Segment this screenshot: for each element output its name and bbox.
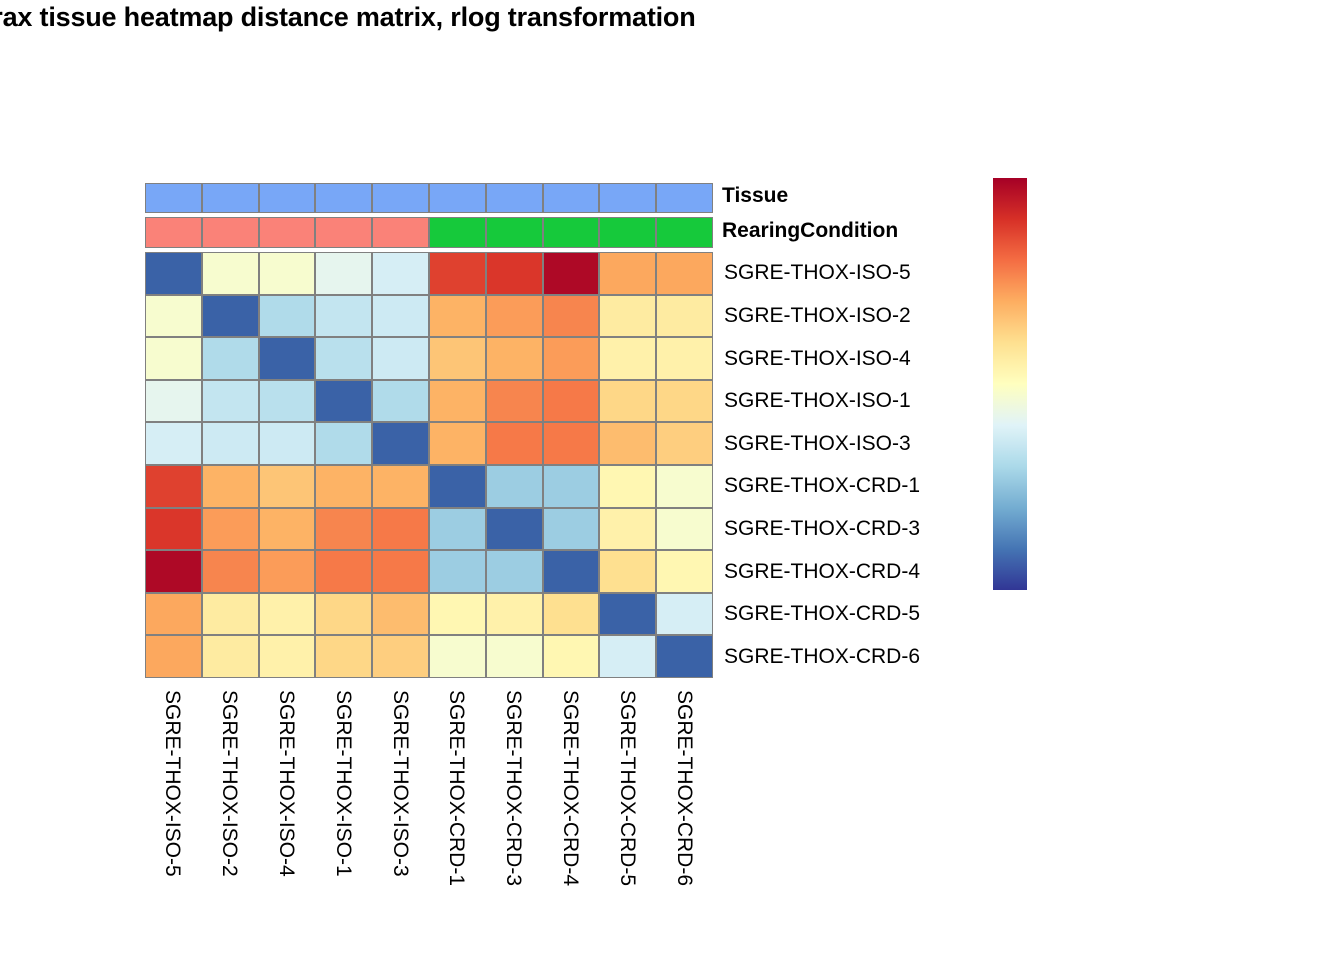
heatmap-cell [599, 380, 656, 423]
heatmap-cell [372, 550, 429, 593]
heatmap-cell [429, 422, 486, 465]
annotation-cell-tissue [656, 183, 713, 213]
annotation-row-label-tissue: Tissue [722, 184, 788, 208]
heatmap-cell [656, 635, 713, 678]
heatmap-cell [429, 508, 486, 551]
heatmap-cell [315, 465, 372, 508]
heatmap-cell [202, 337, 259, 380]
heatmap-cell [486, 337, 543, 380]
heatmap-cell [315, 380, 372, 423]
heatmap-cell [656, 550, 713, 593]
heatmap-cell [202, 422, 259, 465]
heatmap-cell [429, 337, 486, 380]
heatmap-cell [145, 465, 202, 508]
column-label: SGRE-THOX-ISO-3 [390, 690, 411, 877]
heatmap-cell [429, 593, 486, 636]
heatmap-cell [202, 550, 259, 593]
heatmap-cell [315, 295, 372, 338]
heatmap-cell [656, 295, 713, 338]
row-label: SGRE-THOX-CRD-4 [724, 561, 920, 582]
heatmap-cell [202, 593, 259, 636]
row-label: SGRE-THOX-ISO-5 [724, 262, 911, 283]
heatmap-cell [486, 508, 543, 551]
heatmap-cell [599, 295, 656, 338]
heatmap-cell [429, 550, 486, 593]
heatmap-cell [599, 550, 656, 593]
row-label: SGRE-THOX-CRD-3 [724, 518, 920, 539]
heatmap-cell [202, 465, 259, 508]
heatmap-cell [429, 465, 486, 508]
heatmap-cell [145, 252, 202, 295]
heatmap-cell [202, 508, 259, 551]
heatmap-matrix [145, 252, 713, 678]
row-label: SGRE-THOX-CRD-5 [724, 603, 920, 624]
row-label: SGRE-THOX-CRD-6 [724, 646, 920, 667]
heatmap-cell [372, 422, 429, 465]
heatmap-cell [145, 550, 202, 593]
heatmap-cell [656, 593, 713, 636]
heatmap-cell [145, 422, 202, 465]
heatmap-cell [315, 508, 372, 551]
heatmap-cell [145, 635, 202, 678]
heatmap-cell [429, 380, 486, 423]
row-label: SGRE-THOX-ISO-3 [724, 433, 911, 454]
heatmap-cell [656, 508, 713, 551]
heatmap-cell [429, 635, 486, 678]
heatmap-cell [543, 337, 600, 380]
heatmap-cell [315, 635, 372, 678]
page-title: orax tissue heatmap distance matrix, rlo… [0, 2, 696, 33]
annotation-cell-tissue [315, 183, 372, 213]
annotation-cell-rearingcondition [656, 217, 713, 248]
heatmap-cell [259, 550, 316, 593]
column-dendrogram [145, 48, 713, 183]
heatmap-cell [315, 337, 372, 380]
heatmap-cell [315, 422, 372, 465]
annotation-row-label-rearingcondition: RearingCondition [722, 219, 898, 243]
heatmap-cell [372, 635, 429, 678]
heatmap-cell [259, 295, 316, 338]
heatmap-cell [372, 380, 429, 423]
column-label: SGRE-THOX-ISO-2 [219, 690, 240, 877]
annotation-cell-tissue [259, 183, 316, 213]
heatmap-figure: orax tissue heatmap distance matrix, rlo… [0, 0, 1344, 960]
heatmap-cell [259, 337, 316, 380]
heatmap-cell [145, 508, 202, 551]
heatmap-cell [599, 252, 656, 295]
heatmap-cell [259, 593, 316, 636]
annotation-cell-rearingcondition [145, 217, 202, 248]
heatmap-cell [486, 252, 543, 295]
heatmap-cell [372, 465, 429, 508]
heatmap-cell [543, 252, 600, 295]
column-label: SGRE-THOX-CRD-4 [560, 690, 581, 886]
annotation-cell-rearingcondition [429, 217, 486, 248]
heatmap-cell [656, 465, 713, 508]
column-label: SGRE-THOX-ISO-1 [333, 690, 354, 877]
annotation-cell-rearingcondition [315, 217, 372, 248]
heatmap-cell [259, 635, 316, 678]
annotation-cell-tissue [486, 183, 543, 213]
heatmap-cell [372, 508, 429, 551]
row-label: SGRE-THOX-ISO-1 [724, 390, 911, 411]
annotation-cell-rearingcondition [486, 217, 543, 248]
heatmap-cell [486, 295, 543, 338]
heatmap-cell [202, 295, 259, 338]
heatmap-cell [372, 295, 429, 338]
column-label: SGRE-THOX-ISO-5 [162, 690, 183, 877]
annotation-cell-rearingcondition [543, 217, 600, 248]
annotation-cell-tissue [599, 183, 656, 213]
annotation-cell-rearingcondition [372, 217, 429, 248]
annotation-cell-rearingcondition [202, 217, 259, 248]
heatmap-cell [259, 508, 316, 551]
heatmap-cell [486, 422, 543, 465]
heatmap-cell [486, 465, 543, 508]
heatmap-cell [315, 593, 372, 636]
heatmap-cell [145, 380, 202, 423]
column-label: SGRE-THOX-ISO-4 [276, 690, 297, 877]
row-dendrogram [8, 252, 145, 678]
heatmap-cell [372, 593, 429, 636]
annotation-cell-tissue [372, 183, 429, 213]
column-label: SGRE-THOX-CRD-6 [674, 690, 695, 886]
heatmap-cell [202, 252, 259, 295]
heatmap-cell [145, 337, 202, 380]
colorbar [993, 178, 1027, 590]
heatmap-cell [315, 252, 372, 295]
heatmap-cell [543, 550, 600, 593]
annotation-cell-tissue [543, 183, 600, 213]
column-label: SGRE-THOX-CRD-3 [503, 690, 524, 886]
heatmap-cell [486, 635, 543, 678]
heatmap-cell [543, 422, 600, 465]
heatmap-cell [429, 252, 486, 295]
heatmap-cell [202, 380, 259, 423]
heatmap-cell [599, 635, 656, 678]
heatmap-cell [599, 593, 656, 636]
annotation-cell-rearingcondition [259, 217, 316, 248]
heatmap-cell [656, 252, 713, 295]
heatmap-cell [429, 295, 486, 338]
heatmap-cell [656, 380, 713, 423]
heatmap-cell [259, 252, 316, 295]
heatmap-cell [599, 337, 656, 380]
row-label: SGRE-THOX-CRD-1 [724, 475, 920, 496]
annotation-cell-tissue [202, 183, 259, 213]
heatmap-cell [486, 550, 543, 593]
heatmap-cell [656, 337, 713, 380]
column-label: SGRE-THOX-CRD-1 [446, 690, 467, 886]
annotation-cell-tissue [429, 183, 486, 213]
heatmap-cell [543, 593, 600, 636]
heatmap-cell [543, 635, 600, 678]
row-label: SGRE-THOX-ISO-2 [724, 305, 911, 326]
heatmap-cell [656, 422, 713, 465]
heatmap-cell [259, 465, 316, 508]
heatmap-cell [315, 550, 372, 593]
heatmap-cell [486, 380, 543, 423]
heatmap-cell [543, 508, 600, 551]
column-label: SGRE-THOX-CRD-5 [617, 690, 638, 886]
row-label: SGRE-THOX-ISO-4 [724, 348, 911, 369]
heatmap-cell [202, 635, 259, 678]
heatmap-cell [543, 295, 600, 338]
heatmap-cell [372, 337, 429, 380]
heatmap-cell [543, 465, 600, 508]
heatmap-cell [599, 422, 656, 465]
heatmap-cell [145, 593, 202, 636]
heatmap-cell [259, 422, 316, 465]
heatmap-cell [486, 593, 543, 636]
annotation-cell-tissue [145, 183, 202, 213]
heatmap-cell [259, 380, 316, 423]
heatmap-cell [145, 295, 202, 338]
heatmap-cell [599, 508, 656, 551]
heatmap-cell [599, 465, 656, 508]
heatmap-cell [372, 252, 429, 295]
annotation-cell-rearingcondition [599, 217, 656, 248]
heatmap-cell [543, 380, 600, 423]
